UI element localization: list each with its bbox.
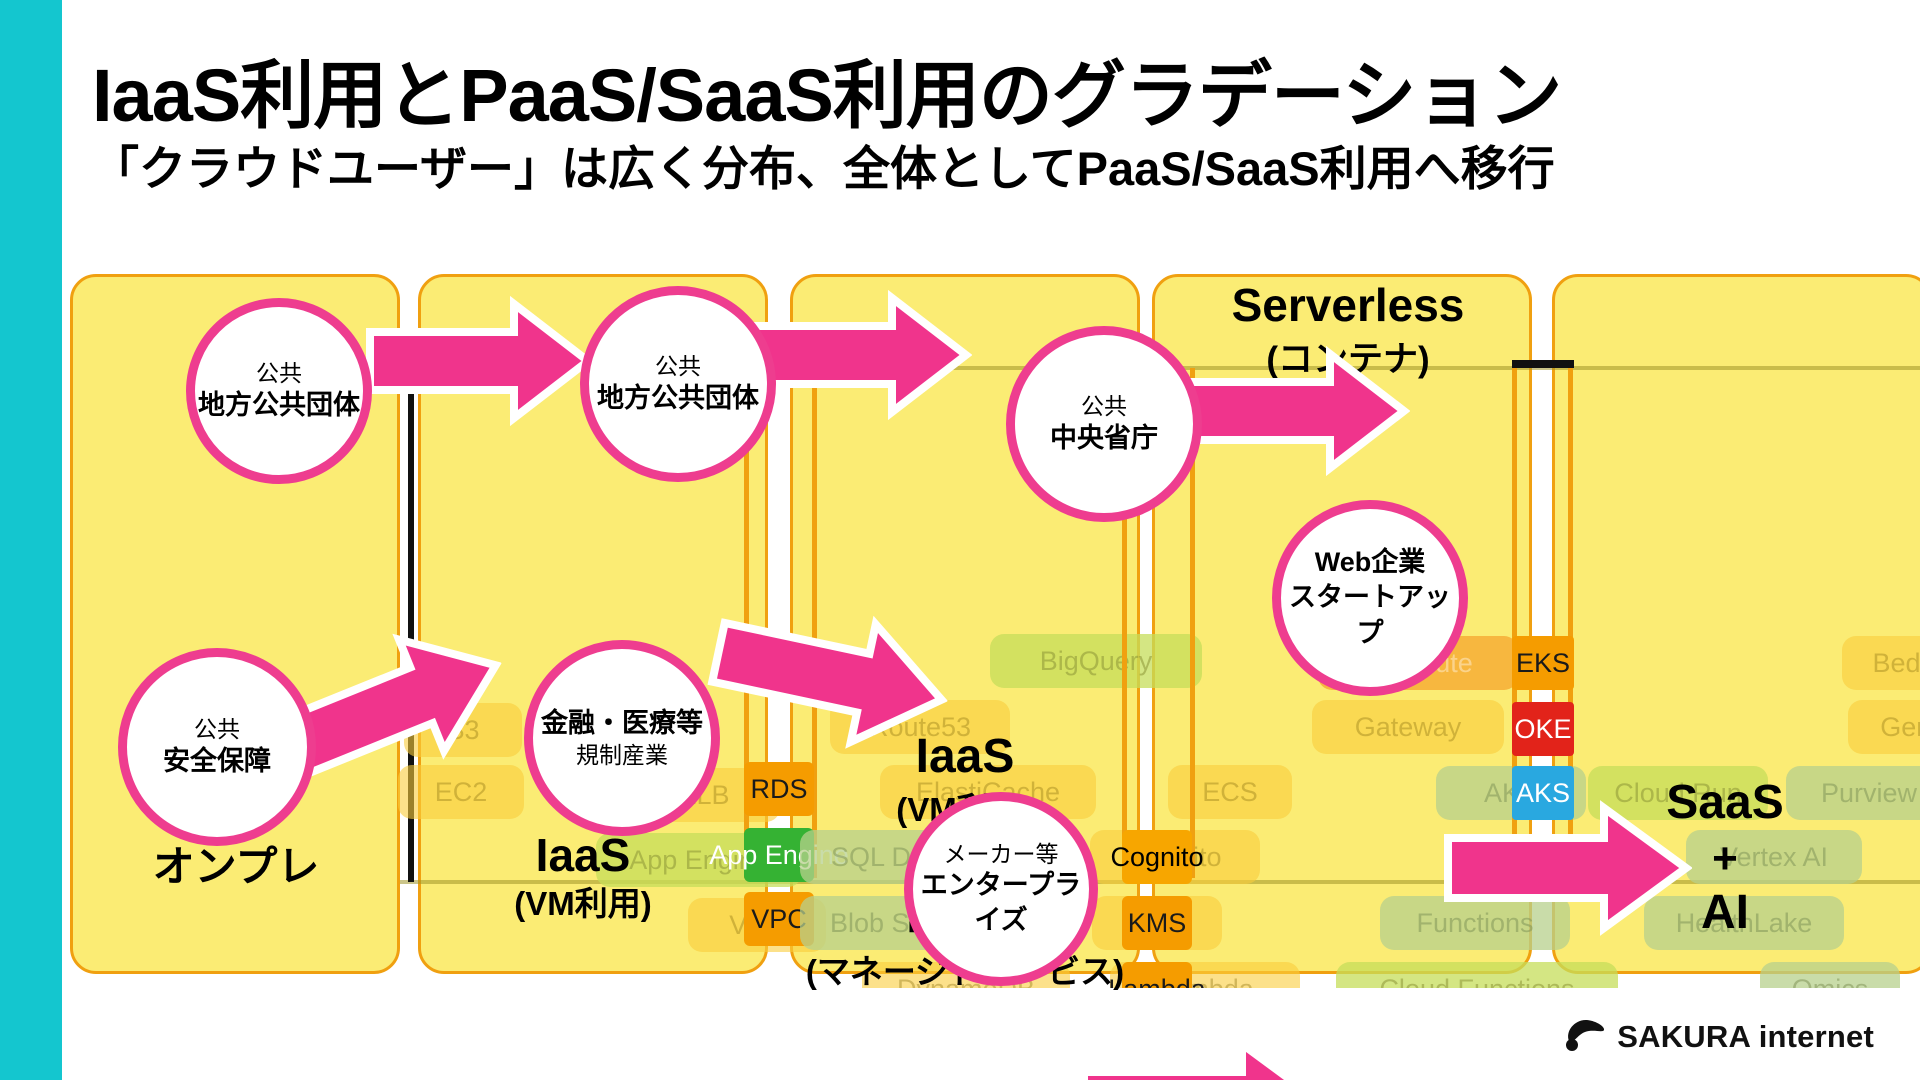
arrow-localgov1-to-localgov2 bbox=[364, 296, 594, 426]
label-iaas-sub: (VM利用) bbox=[458, 886, 708, 923]
service-tag-highlight: RDS bbox=[744, 762, 814, 816]
bubble-central-gov[interactable]: 公共 中央省庁 bbox=[1006, 326, 1202, 522]
bubble-title: エンタープライズ bbox=[913, 868, 1089, 938]
bubble-enterprise[interactable]: メーカー等 エンタープライズ bbox=[904, 792, 1098, 986]
service-tag-highlight: Lambda bbox=[1122, 962, 1192, 988]
bubble-local-gov-1[interactable]: 公共 地方公共団体 bbox=[186, 298, 372, 484]
title-block: IaaS利用とPaaS/SaaS利用のグラデーション 「クラウドユーザー」は広く… bbox=[92, 58, 1882, 196]
bubble-subtitle: 公共 bbox=[655, 352, 701, 381]
bubble-subtitle: 公共 bbox=[194, 715, 240, 744]
service-tag: Gateway bbox=[1312, 700, 1504, 754]
arrow-centralgov-to-serverless bbox=[1180, 346, 1410, 476]
service-tag-highlight: KMS bbox=[1122, 896, 1192, 950]
bubble-title: 安全保障 bbox=[163, 744, 271, 779]
service-tag: ECS bbox=[1168, 765, 1292, 819]
page-title: IaaS利用とPaaS/SaaS利用のグラデーション bbox=[92, 58, 1882, 135]
service-tag-highlight: OKE bbox=[1512, 702, 1574, 756]
bubble-finance-medical[interactable]: 金融・医療等 規制産業 bbox=[524, 640, 720, 836]
bubble-local-gov-2[interactable]: 公共 地方公共団体 bbox=[580, 286, 776, 482]
bubble-title: Web企業 bbox=[1315, 545, 1426, 580]
bubble-web-startup[interactable]: Web企業 スタートアップ bbox=[1272, 500, 1468, 696]
label-iaas: IaaS bbox=[458, 830, 708, 882]
arrow-enterprise-to-kubernetes bbox=[1078, 1038, 1328, 1080]
arrow-finance-to-enterprise bbox=[710, 606, 950, 746]
gradation-diagram: S3 EC2 ELB App Engine VPC RDS VPC App En… bbox=[0, 268, 1920, 988]
bubble-security[interactable]: 公共 安全保障 bbox=[118, 648, 316, 846]
arrow-webstartup-to-saas bbox=[1442, 798, 1692, 938]
bubble-title: 地方公共団体 bbox=[597, 381, 759, 416]
bubble-title: 地方公共団体 bbox=[198, 388, 360, 423]
service-tag: Gemini bbox=[1848, 700, 1920, 754]
service-tag: Cloud Functions bbox=[1336, 962, 1618, 988]
service-tag: Omics bbox=[1760, 962, 1900, 988]
bubble-subtitle: 規制産業 bbox=[576, 741, 668, 770]
arrow-localgov2-to-centralgov bbox=[742, 290, 972, 420]
logo-text: SAKURA internet bbox=[1617, 1019, 1874, 1055]
label-onpre: オンプレ bbox=[116, 843, 356, 890]
bubble-title-line2: スタートアップ bbox=[1281, 580, 1459, 650]
service-tag: Bedrock bbox=[1842, 636, 1920, 690]
sakura-internet-logo: SAKURA internet bbox=[1563, 1015, 1874, 1058]
bubble-title: 中央省庁 bbox=[1050, 421, 1158, 456]
label-serverless: Serverless bbox=[1168, 280, 1528, 332]
sakura-petal-icon bbox=[1563, 1015, 1607, 1058]
service-tag-highlight: EKS bbox=[1512, 636, 1574, 690]
bubble-subtitle: 公共 bbox=[256, 359, 302, 388]
bubble-title: 金融・医療等 bbox=[541, 706, 703, 741]
page-subtitle: 「クラウドユーザー」は広く分布、全体としてPaaS/SaaS利用へ移行 bbox=[92, 141, 1882, 196]
service-tag: BigQuery bbox=[990, 634, 1202, 688]
service-tag-highlight: Cognito bbox=[1122, 830, 1192, 884]
bubble-subtitle: メーカー等 bbox=[944, 840, 1059, 869]
bubble-subtitle: 公共 bbox=[1081, 392, 1127, 421]
